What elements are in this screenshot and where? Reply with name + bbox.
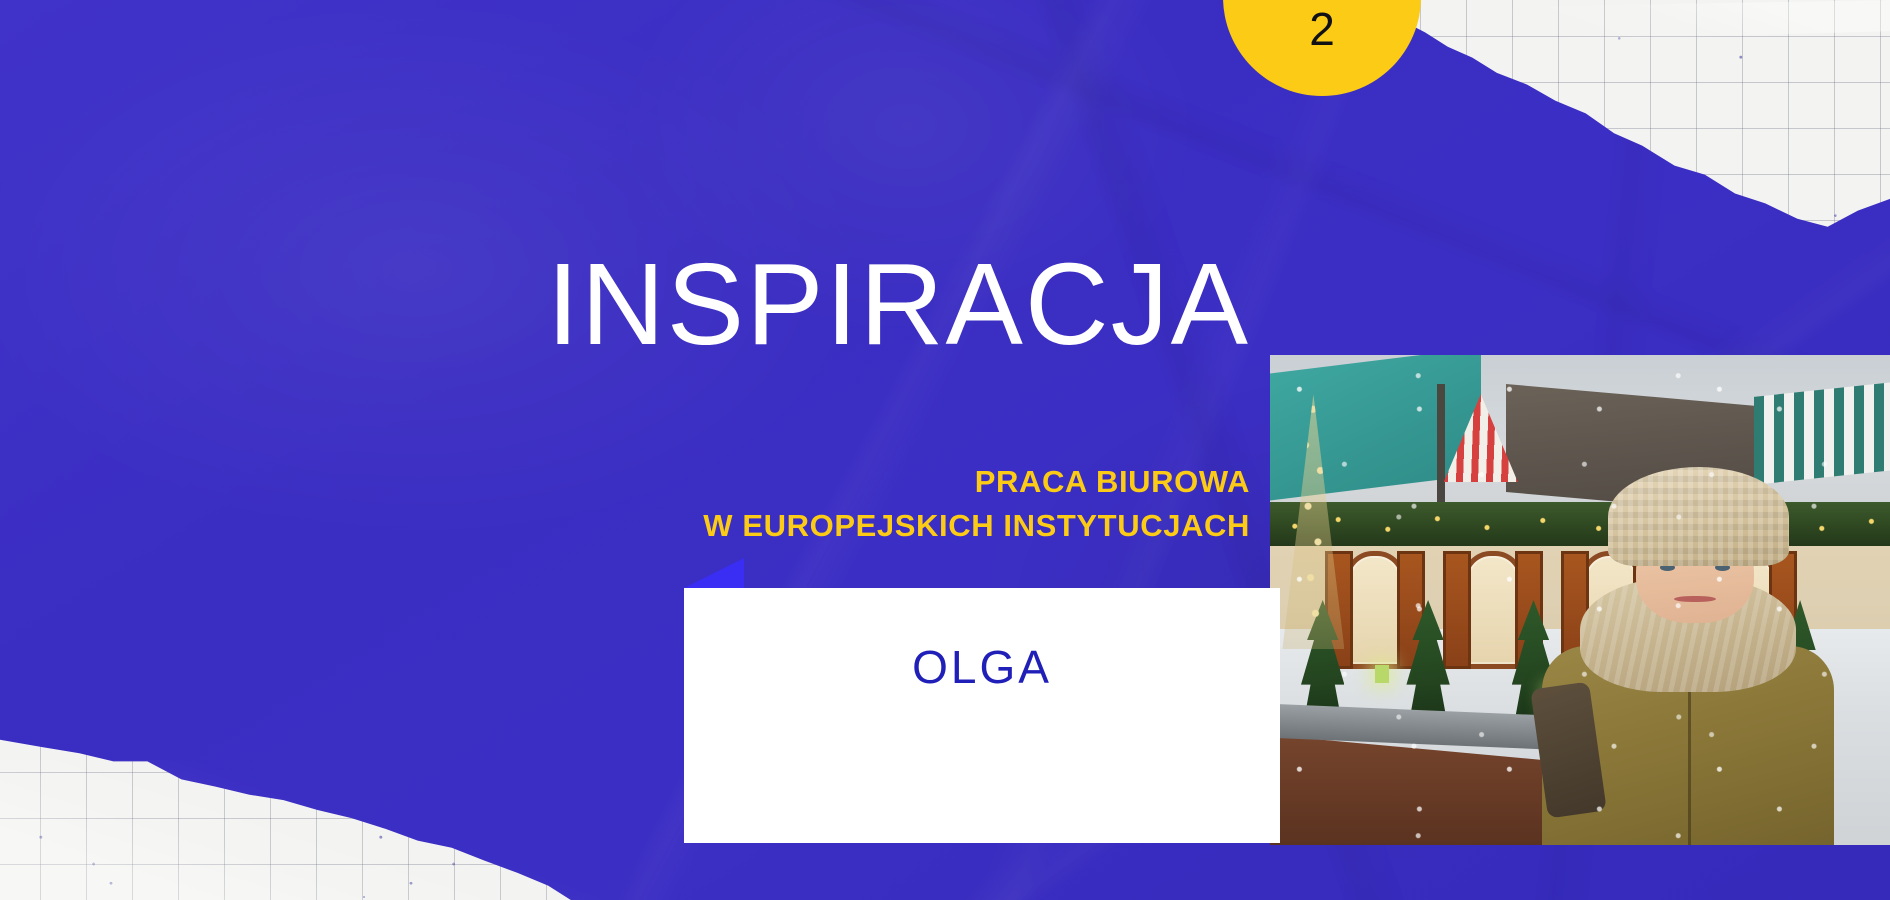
speaker-name: OLGA <box>912 640 1052 694</box>
presentation-slide: 2 <box>0 0 1890 900</box>
speaker-name-card: OLGA <box>684 588 1280 843</box>
speaker-photo <box>1270 355 1890 845</box>
title-block: INSPIRACJA <box>0 246 1250 362</box>
photo-painted-window <box>1344 551 1406 669</box>
page-title: INSPIRACJA <box>0 246 1250 362</box>
photo-knitted-hat <box>1608 467 1789 566</box>
subtitle-line-1: PRACA BIUROWA <box>0 460 1250 504</box>
photo-ground-lamp <box>1375 665 1389 683</box>
subtitle-line-2: W EUROPEJSKICH INSTYTUCJACH <box>0 504 1250 548</box>
photo-painted-window <box>1462 551 1524 669</box>
photo-woman <box>1518 463 1865 845</box>
photo-lips <box>1674 596 1716 603</box>
photo-lamp-post <box>1437 384 1445 511</box>
photo-content <box>1270 355 1890 845</box>
subtitle-block: PRACA BIUROWA W EUROPEJSKICH INSTYTUCJAC… <box>0 460 1250 548</box>
slide-number-text: 2 <box>1309 6 1335 96</box>
